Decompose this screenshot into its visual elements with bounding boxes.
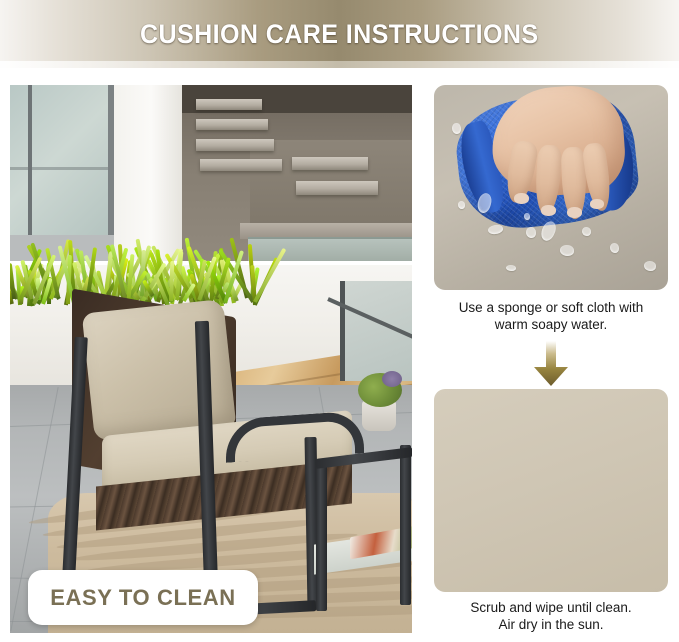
stair-tread: [292, 157, 368, 170]
water-droplet: [610, 243, 619, 253]
easy-to-clean-label: EASY TO CLEAN: [50, 585, 235, 611]
side-table-leg: [400, 445, 411, 605]
care-steps-column: Use a sponge or soft cloth with warm soa…: [434, 85, 668, 633]
water-droplet: [524, 213, 530, 220]
water-droplet: [487, 224, 504, 236]
step-1-caption-line-2: warm soapy water.: [434, 316, 668, 333]
water-droplet: [506, 265, 516, 271]
stair-tread: [196, 99, 262, 110]
step-1-caption-line-1: Use a sponge or soft cloth with: [434, 299, 668, 316]
glass-window-left: [10, 85, 122, 235]
side-table-leg: [316, 461, 327, 611]
window-rail: [10, 167, 122, 170]
stair-tread: [200, 159, 282, 171]
water-droplet: [452, 123, 461, 134]
fingernail: [541, 205, 556, 216]
easy-to-clean-badge: EASY TO CLEAN: [28, 570, 258, 625]
step-2-image: [434, 389, 668, 592]
stair-tread: [196, 119, 268, 130]
header-banner: CUSHION CARE INSTRUCTIONS: [0, 0, 679, 68]
water-droplet: [560, 245, 574, 256]
down-arrow-icon: [529, 341, 573, 387]
pot-flower: [382, 371, 402, 387]
fingernail: [567, 207, 582, 218]
water-droplet: [644, 261, 656, 271]
stair-tread: [296, 181, 378, 195]
window-mullion: [28, 85, 32, 235]
water-droplet: [458, 201, 465, 209]
step-1-image: [434, 85, 668, 290]
patio-chair-photo: [10, 85, 412, 633]
chair-back-cushion: [82, 299, 237, 441]
step-arrow-container: [434, 339, 668, 389]
water-droplet: [582, 227, 591, 236]
step-2-caption-line-1: Scrub and wipe until clean.: [434, 599, 668, 616]
water-droplet: [526, 227, 536, 238]
glass-frame-right: [340, 281, 345, 381]
stair-tread: [196, 139, 274, 151]
ornamental-grass: [10, 240, 258, 306]
fingernail: [514, 193, 529, 204]
fingernail: [590, 199, 604, 209]
step-2-caption: Scrub and wipe until clean. Air dry in t…: [434, 599, 668, 633]
step-1-caption: Use a sponge or soft cloth with warm soa…: [434, 299, 668, 333]
step-2-caption-line-2: Air dry in the sun.: [434, 616, 668, 633]
page-title: CUSHION CARE INSTRUCTIONS: [140, 19, 539, 50]
